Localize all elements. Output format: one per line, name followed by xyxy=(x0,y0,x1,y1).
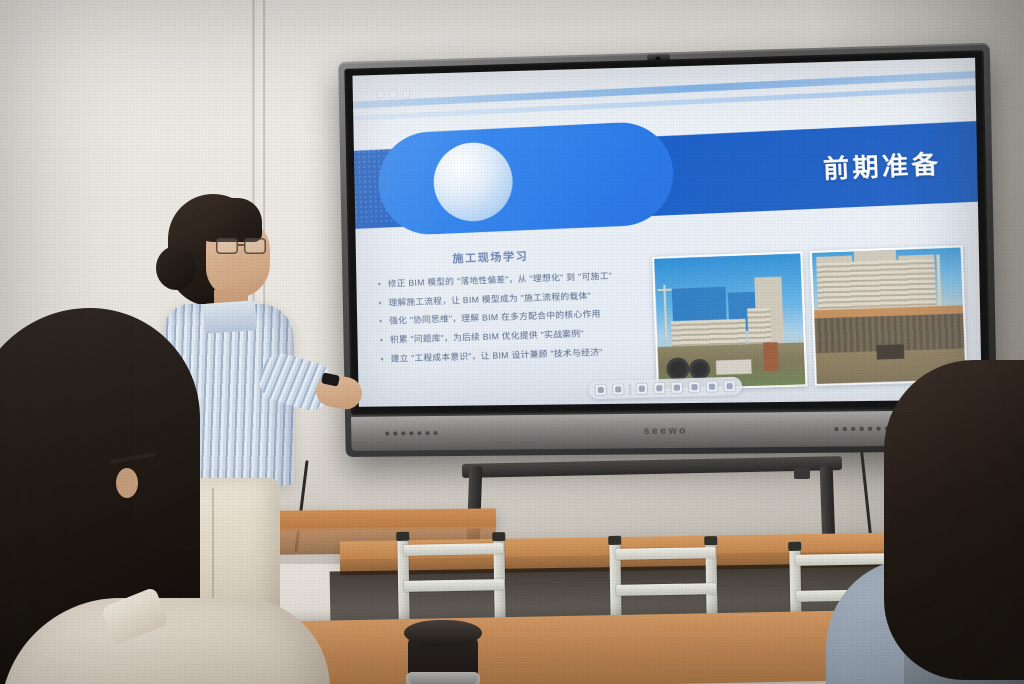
slide-subtitle: 施工现场学习 xyxy=(452,248,529,267)
palette-icon[interactable] xyxy=(594,384,607,397)
brand-logo: seewo xyxy=(644,425,689,437)
construction-photo-left xyxy=(652,251,808,391)
pen-icon[interactable] xyxy=(653,382,666,395)
bullet-text: 强化 "协同思维"，理解 BIM 在多方配合中的核心作用 xyxy=(389,309,601,327)
presentation-slide: 前期准备 施工现场学习 • 修正 BIM 模型的 "落地性偏差"，从 "理想化"… xyxy=(352,58,981,407)
bullet-marker: • xyxy=(378,297,382,308)
annotation-toolbar[interactable] xyxy=(588,377,742,400)
save-icon[interactable] xyxy=(612,383,625,396)
glasses-icon xyxy=(216,238,270,254)
list-item: • 强化 "协同思维"，理解 BIM 在多方配合中的核心作用 xyxy=(379,305,684,327)
presenter-hair-front xyxy=(196,198,262,242)
cup-lid xyxy=(404,620,482,646)
audience-member-left xyxy=(0,308,380,684)
eraser-icon[interactable] xyxy=(670,381,683,394)
slide-header: 前期准备 xyxy=(353,113,978,235)
audience-left-hair xyxy=(0,308,200,638)
toolbar-divider xyxy=(629,383,630,394)
speaker-grille-left xyxy=(385,431,437,436)
shape-icon[interactable] xyxy=(688,381,701,394)
bullet-text: 理解施工流程，让 BIM 模型成为 "施工流程的载体" xyxy=(388,290,591,308)
header-pill-shape xyxy=(377,120,676,236)
page-icon[interactable] xyxy=(706,380,719,393)
more-icon[interactable] xyxy=(723,380,736,393)
window-controls[interactable] xyxy=(377,90,410,98)
corner-shading xyxy=(904,484,1024,684)
list-item: • 建立 "工程成本意识"，让 BIM 设计兼顾 "技术与经济" xyxy=(380,343,685,364)
slide-title: 前期准备 xyxy=(822,144,942,186)
bullet-marker: • xyxy=(380,353,384,364)
window-dot-1[interactable] xyxy=(377,91,384,98)
classroom-photo: 前期准备 施工现场学习 • 修正 BIM 模型的 "落地性偏差"，从 "理想化"… xyxy=(0,0,1024,684)
bullet-marker: • xyxy=(380,334,384,345)
list-item: • 理解施工流程，让 BIM 模型成为 "施工流程的载体" xyxy=(378,286,683,308)
display-screen[interactable]: 前期准备 施工现场学习 • 修正 BIM 模型的 "落地性偏差"，从 "理想化"… xyxy=(352,58,981,407)
cup-base-ring xyxy=(406,672,480,684)
stand-adjust-knob[interactable] xyxy=(794,468,810,479)
list-item: • 修正 BIM 模型的 "落地性偏差"，从 "理想化" 到 "可施工" xyxy=(378,267,683,290)
window-dot-3[interactable] xyxy=(403,90,410,97)
bullet-text: 修正 BIM 模型的 "落地性偏差"，从 "理想化" 到 "可施工" xyxy=(388,271,613,290)
presenter-hair-bun xyxy=(156,246,196,290)
bullet-list: • 修正 BIM 模型的 "落地性偏差"，从 "理想化" 到 "可施工" • 理… xyxy=(378,267,686,372)
bullet-marker: • xyxy=(378,278,382,289)
stand-crossbar xyxy=(462,456,842,478)
cursor-icon[interactable] xyxy=(635,382,648,395)
list-item: • 积累 "问题库"，为后续 BIM 优化提供 "实战案例" xyxy=(380,324,685,346)
bullet-text: 积累 "问题库"，为后续 BIM 优化提供 "实战案例" xyxy=(390,329,584,346)
bullet-text: 建立 "工程成本意识"，让 BIM 设计兼顾 "技术与经济" xyxy=(390,347,602,364)
audience-left-ear xyxy=(116,468,138,498)
thermos-cup[interactable] xyxy=(404,620,482,684)
chair xyxy=(397,535,509,625)
window-dot-2[interactable] xyxy=(390,90,397,97)
